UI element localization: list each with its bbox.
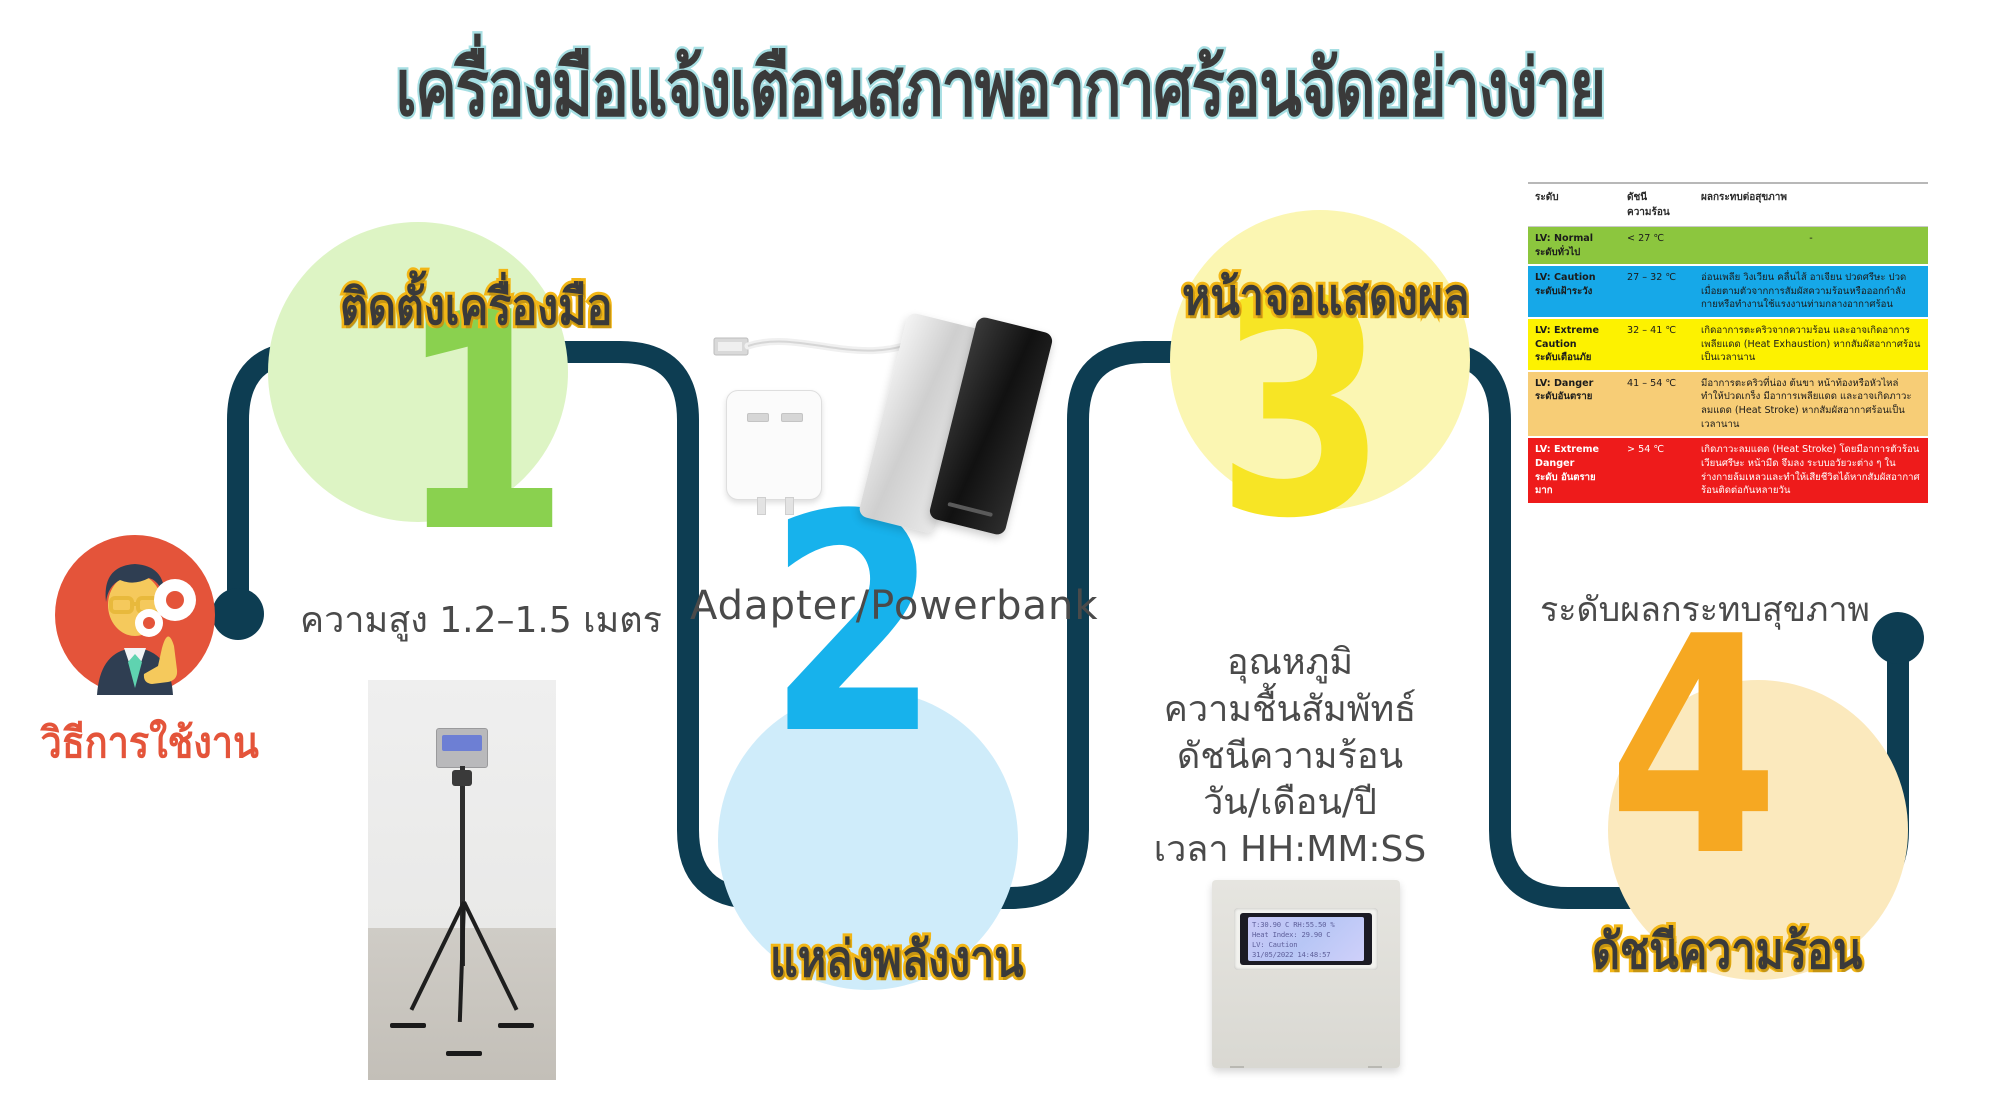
col-header-level: ระดับ	[1528, 183, 1620, 227]
lcd-line-4: 31/05/2022 14:48:57	[1252, 950, 1360, 960]
col-header-index-line1: ดัชนี	[1627, 192, 1647, 203]
row-level: LV: Caution ระดับเฝ้าระวัง	[1528, 265, 1620, 318]
how-to-use-label: วิธีการใช้งาน	[41, 710, 230, 776]
step-4-caption: ระดับผลกระทบสุขภาพ	[1540, 588, 1870, 632]
row-level: LV: Extreme Caution ระดับเตือนภัย	[1528, 318, 1620, 371]
step-3-caption-line-1: อุณหภูมิ	[1150, 640, 1430, 687]
lcd-line-3: LV: Caution	[1252, 940, 1360, 950]
step-3-caption-line-3: ดัชนีความร้อน	[1150, 734, 1430, 781]
row-level-th: ระดับทั่วไป	[1535, 247, 1580, 258]
tripod-photo	[368, 680, 556, 1080]
row-index: 32 – 41 ℃	[1620, 318, 1694, 371]
table-row: LV: Danger ระดับอันตราย 41 – 54 ℃ มีอากา…	[1528, 371, 1928, 437]
table-row: LV: Caution ระดับเฝ้าระวัง 27 – 32 ℃ อ่อ…	[1528, 265, 1928, 318]
table-row: LV: Extreme Caution ระดับเตือนภัย 32 – 4…	[1528, 318, 1928, 371]
step-4-numeral: 4	[1608, 620, 1779, 875]
row-level-en: LV: Normal	[1535, 233, 1593, 244]
row-level-en: LV: Extreme Caution	[1535, 325, 1599, 350]
row-level-th: ระดับอันตราย	[1535, 391, 1592, 402]
step-3-caption-line-4: วัน/เดือน/ปี	[1150, 780, 1430, 827]
lcd-screen: T:30.90 C RH:55.50 % Heat Index: 29.90 C…	[1248, 917, 1364, 961]
row-index: 41 – 54 ℃	[1620, 371, 1694, 437]
step-3-caption-line-5: เวลา HH:MM:SS	[1150, 827, 1430, 874]
row-effect: เกิดอาการตะคริวจากความร้อน และอาจเกิดอาก…	[1694, 318, 1928, 371]
row-level-th: ระดับ อันตรายมาก	[1535, 472, 1596, 497]
heat-index-table: ระดับ ดัชนี ความร้อน ผลกระทบต่อสุขภาพ LV…	[1528, 182, 1928, 505]
row-level-en: LV: Caution	[1535, 272, 1596, 283]
row-level: LV: Danger ระดับอันตราย	[1528, 371, 1620, 437]
table-row: LV: Normal ระดับทั่วไป < 27 ℃ -	[1528, 227, 1928, 266]
table-header-row: ระดับ ดัชนี ความร้อน ผลกระทบต่อสุขภาพ	[1528, 183, 1928, 227]
row-effect: อ่อนเพลีย วิงเวียน คลื่นไส้ อาเจียน ปวดศ…	[1694, 265, 1928, 318]
adapter-photo	[726, 390, 822, 500]
lcd-line-2: Heat Index: 29.90 C	[1252, 930, 1360, 940]
infographic-canvas: เครื่องมือแจ้งเตือนสภาพอากาศร้อนจัดอย่าง…	[0, 0, 2000, 1111]
step-1-label: ติดตั้งเครื่องมือ	[340, 268, 612, 347]
step-3-caption-line-2: ความชื้นสัมพัทธ์	[1150, 687, 1430, 734]
row-index: > 54 ℃	[1620, 437, 1694, 503]
row-level: LV: Normal ระดับทั่วไป	[1528, 227, 1620, 266]
table-row: LV: Extreme Danger ระดับ อันตรายมาก > 54…	[1528, 437, 1928, 503]
how-to-use-badge: วิธีการใช้งาน	[30, 530, 240, 776]
row-level-en: LV: Danger	[1535, 378, 1593, 389]
page-title: เครื่องมือแจ้งเตือนสภาพอากาศร้อนจัดอย่าง…	[200, 26, 1800, 150]
row-level-th: ระดับเตือนภัย	[1535, 352, 1591, 363]
lcd-display-photo: T:30.90 C RH:55.50 % Heat Index: 29.90 C…	[1212, 880, 1400, 1068]
row-index: 27 – 32 ℃	[1620, 265, 1694, 318]
col-header-index: ดัชนี ความร้อน	[1620, 183, 1694, 227]
step-2-caption: Adapter/Powerbank	[690, 580, 1099, 632]
step-1-caption: ความสูง 1.2–1.5 เมตร	[300, 598, 662, 645]
row-level-th: ระดับเฝ้าระวัง	[1535, 286, 1592, 297]
row-index: < 27 ℃	[1620, 227, 1694, 266]
step-4-label: ดัชนีความร้อน	[1592, 912, 1862, 991]
row-effect: เกิดภาวะลมแดด (Heat Stroke) โดยมีอาการตั…	[1694, 437, 1928, 503]
row-level-en: LV: Extreme Danger	[1535, 444, 1599, 469]
step-3-caption: อุณหภูมิ ความชื้นสัมพัทธ์ ดัชนีความร้อน …	[1150, 640, 1430, 874]
lcd-line-1: T:30.90 C RH:55.50 %	[1252, 920, 1360, 930]
col-header-effect: ผลกระทบต่อสุขภาพ	[1694, 183, 1928, 227]
step-3-label: หน้าจอแสดงผล	[1182, 258, 1469, 337]
row-effect: -	[1694, 227, 1928, 266]
user-gears-icon	[50, 530, 220, 700]
row-level: LV: Extreme Danger ระดับ อันตรายมาก	[1528, 437, 1620, 503]
row-effect: มีอาการตะคริวที่น่อง ต้นขา หน้าท้องหรือห…	[1694, 371, 1928, 437]
col-header-index-line2: ความร้อน	[1627, 207, 1670, 218]
step-2-label: แหล่งพลังงาน	[770, 920, 1024, 999]
